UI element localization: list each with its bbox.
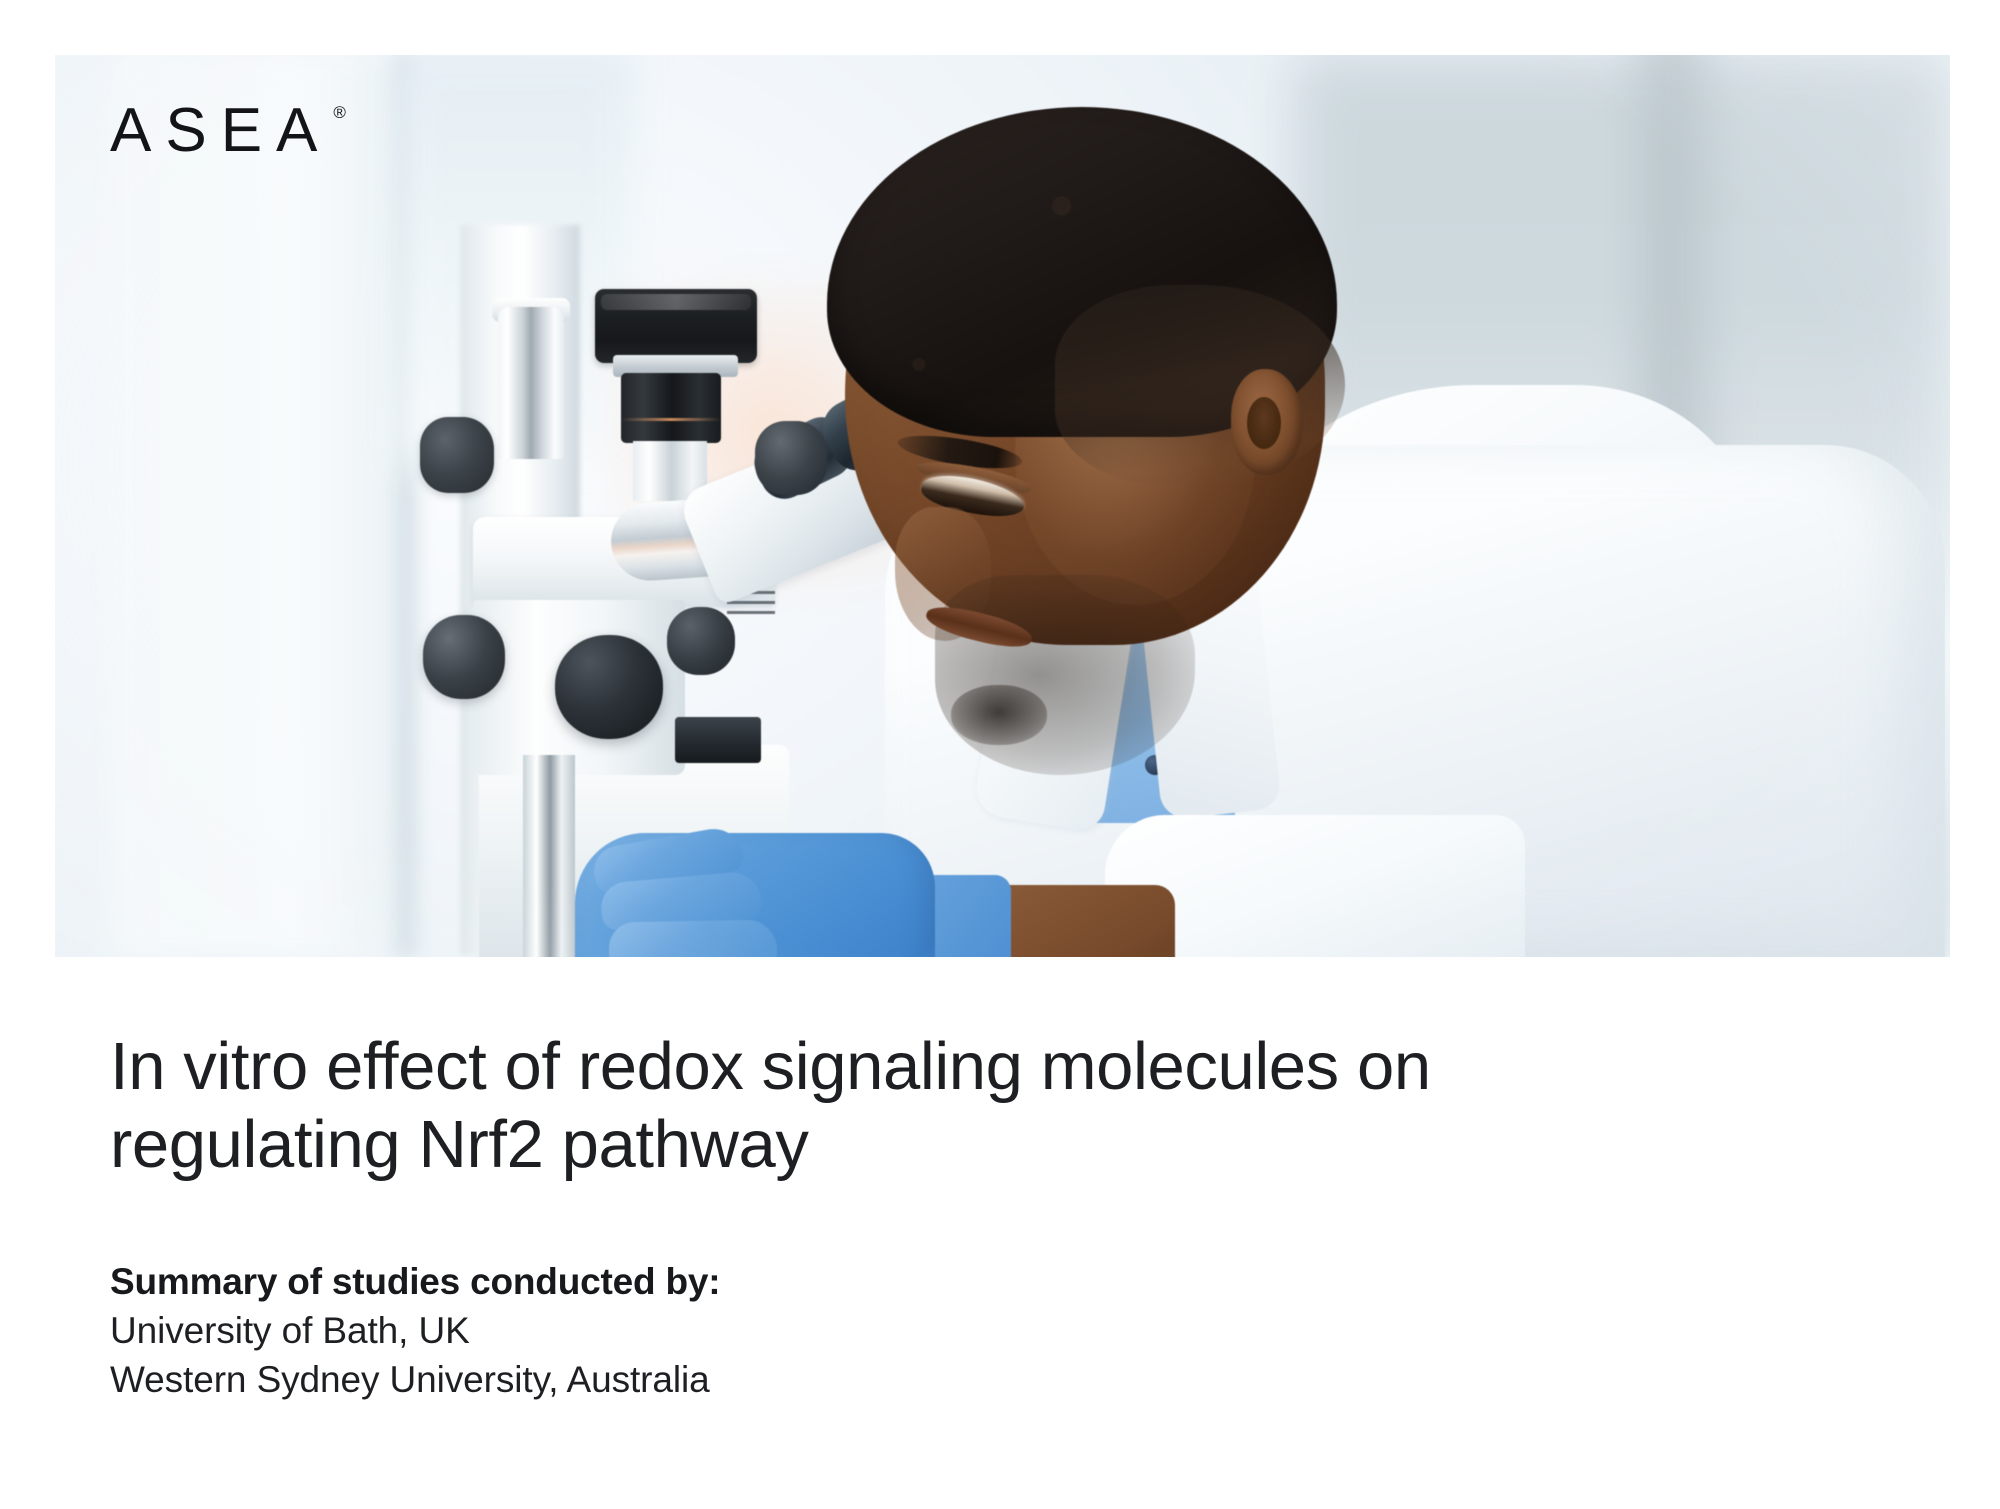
page-title: In vitro effect of redox signaling molec… [110, 1028, 1790, 1185]
hair-fade [1055, 285, 1345, 485]
summary-section: Summary of studies conducted by: Univers… [110, 1257, 1830, 1405]
summary-label: Summary of studies conducted by: [110, 1257, 1830, 1306]
researcher [55, 55, 1950, 957]
page-title-line-2: regulating Nrf2 pathway [110, 1106, 1790, 1184]
glove-finger [609, 920, 778, 957]
page-title-line-1: In vitro effect of redox signaling molec… [110, 1028, 1790, 1106]
chin-beard [951, 685, 1047, 745]
institution-item: Western Sydney University, Australia [110, 1355, 1830, 1404]
hero-photo [55, 55, 1950, 957]
cover-page: ASEA ® In vitro effect of redox signalin… [0, 0, 2000, 1509]
cover-text-block: In vitro effect of redox signaling molec… [110, 1028, 1830, 1404]
institution-item: University of Bath, UK [110, 1306, 1830, 1355]
ear [1231, 369, 1303, 475]
registered-trademark-icon: ® [333, 104, 346, 121]
asea-logo: ASEA ® [110, 100, 346, 162]
asea-logo-wordmark: ASEA [110, 100, 331, 162]
